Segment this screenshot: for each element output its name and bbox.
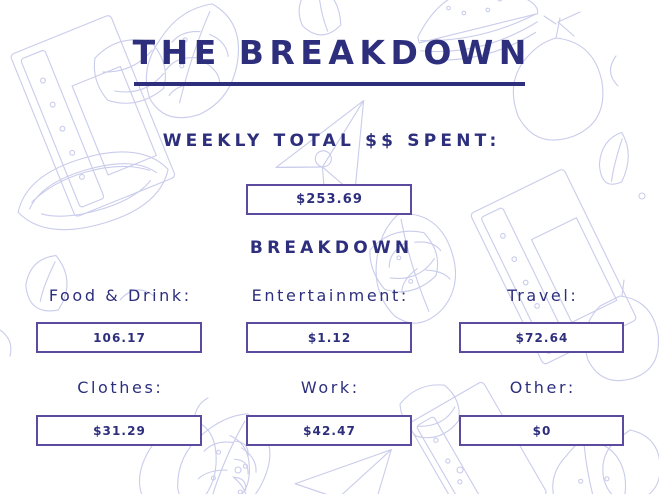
category-value-other[interactable]: $0 — [459, 415, 624, 446]
weekly-total-label: WEEKLY TOTAL $$ SPENT: — [0, 131, 659, 151]
category-label-entertainment: Entertainment: — [246, 286, 412, 305]
category-value-entertainment[interactable]: $1.12 — [246, 322, 412, 353]
category-label-clothes: Clothes: — [36, 378, 202, 397]
category-label-other: Other: — [459, 378, 624, 397]
breakdown-section-label: BREAKDOWN — [0, 238, 659, 258]
budget-breakdown-page: THE BREAKDOWN WEEKLY TOTAL $$ SPENT: $25… — [0, 0, 659, 494]
title-underline-rule — [134, 82, 525, 86]
category-label-food-drink: Food & Drink: — [36, 286, 202, 305]
category-value-work[interactable]: $42.47 — [246, 415, 412, 446]
title-block: THE BREAKDOWN — [0, 36, 659, 69]
category-value-food-drink[interactable]: 106.17 — [36, 322, 202, 353]
category-value-travel[interactable]: $72.64 — [459, 322, 624, 353]
category-label-work: Work: — [246, 378, 412, 397]
category-value-clothes[interactable]: $31.29 — [36, 415, 202, 446]
weekly-total-value-box[interactable]: $253.69 — [246, 184, 412, 215]
category-label-travel: Travel: — [459, 286, 624, 305]
page-title: THE BREAKDOWN — [0, 36, 659, 69]
